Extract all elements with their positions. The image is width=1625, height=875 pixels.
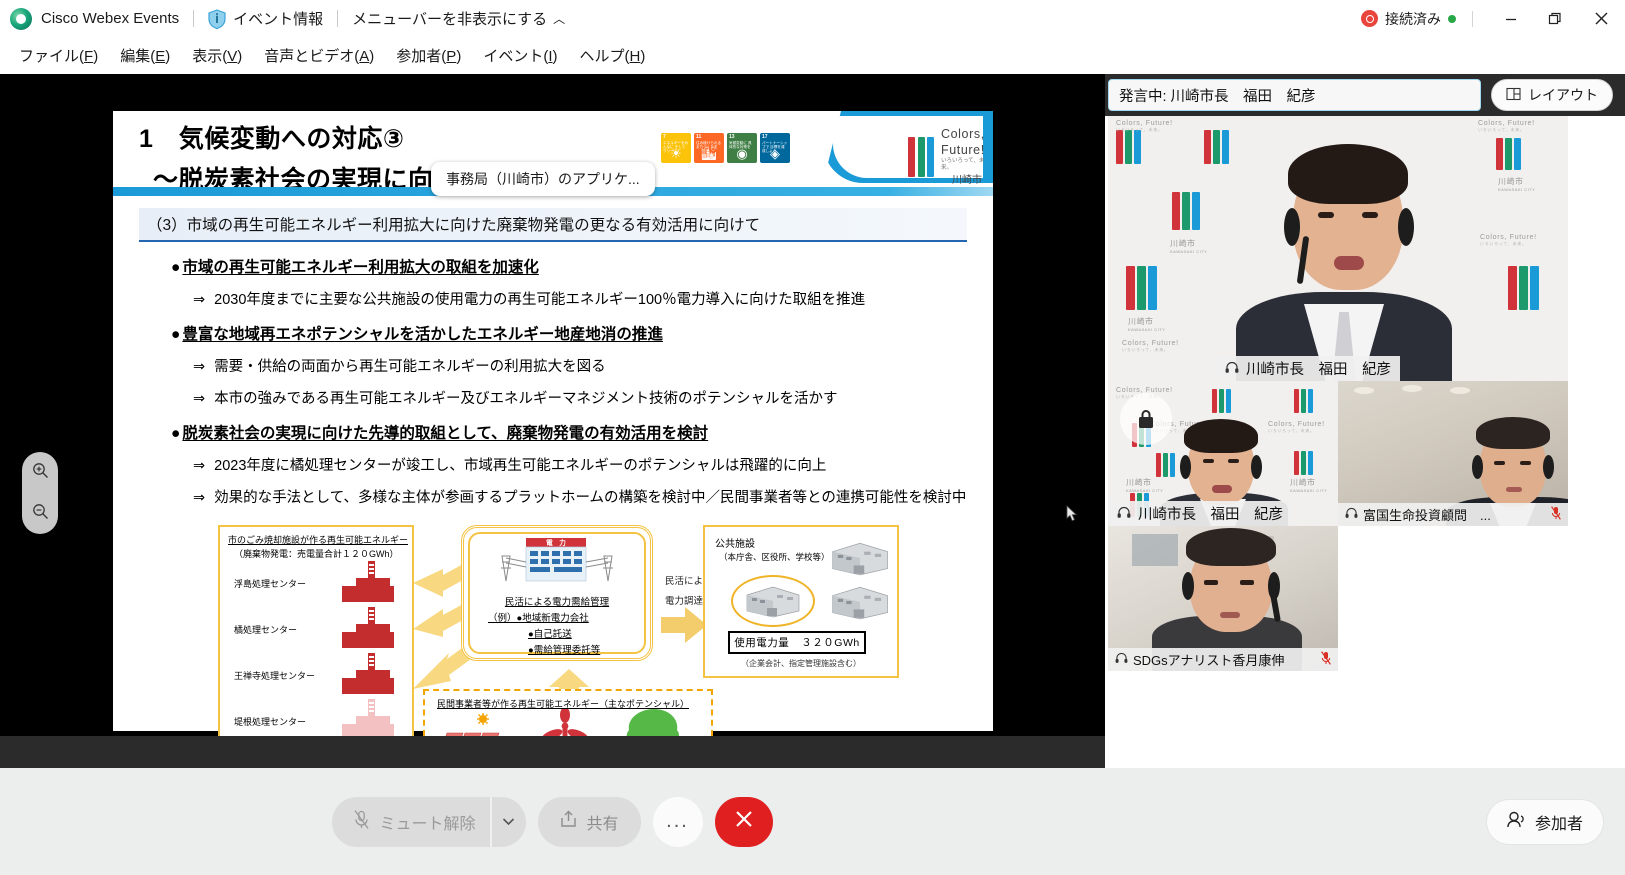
layout-grid-icon — [1506, 87, 1521, 104]
menu-label: 編集 — [120, 48, 150, 65]
bullet-head: ●豊富な地域再エネポテンシャルを活かしたエネルギー地産地消の推進 — [171, 322, 993, 344]
video-tile-name: 川崎市長 福田 紀彦 — [1246, 358, 1391, 379]
close-button[interactable] — [1577, 0, 1625, 37]
event-info-label: イベント情報 — [233, 8, 323, 29]
menu-item-file[interactable]: ファイル(F) — [8, 42, 109, 69]
menu-bar: ファイル(F) 編集(E) 表示(V) 音声とビデオ(A) 参加者(P) イベン… — [0, 37, 1625, 74]
slide-diagram: 市のごみ焼却施設が作る再生可能エネルギー （廃棄物発電：売電量合計１２０GWh）… — [113, 521, 993, 768]
app-title: Cisco Webex Events — [41, 10, 179, 27]
close-icon — [733, 808, 755, 836]
bullet-head-text: 脱炭素社会の実現に向けた先導的取組として、廃棄物発電の有効活用を検討 — [182, 421, 708, 443]
headset-icon — [1225, 361, 1239, 377]
leave-meeting-button[interactable] — [715, 797, 773, 847]
logo-tagline: Colors, Future! — [941, 127, 993, 158]
participants-button[interactable]: 参加者 — [1487, 800, 1603, 844]
slide-bullets: ●市域の再生可能エネルギー利用拡大の取組を加速化 ⇒ 2030年度までに主要な公… — [171, 255, 993, 507]
sdg-badge-11: 11 住み続けられる まちづくりを 🏙 — [694, 133, 724, 163]
more-options-button[interactable]: ... — [653, 797, 703, 847]
menu-item-participants[interactable]: 参加者(P) — [385, 42, 472, 69]
arrow-icon: ⇒ — [193, 359, 205, 375]
video-tile-name-bar: 川崎市長 福田 紀彦 — [1108, 501, 1292, 526]
bullet-sub: ⇒ 本市の強みである再生可能エネルギー及びエネルギーマネジメント技術のポテンシャ… — [193, 387, 993, 408]
diagram-plant-row: 橘処理センター — [220, 605, 416, 651]
bullet-head-text: 市域の再生可能エネルギー利用拡大の取組を加速化 — [182, 255, 539, 277]
webex-logo-icon — [10, 8, 32, 30]
incinerator-icon — [338, 607, 400, 649]
bullet-sub-text: 本市の強みである再生可能エネルギー及びエネルギーマネジメント技術のポテンシャルを… — [214, 387, 837, 408]
menu-label: ファイル — [19, 48, 79, 65]
diagram-mid-box: 電 力 民活による電力需給管理 — [461, 525, 653, 661]
mic-muted-icon — [1321, 651, 1331, 668]
menu-accel: E — [155, 48, 165, 65]
layout-button-label: レイアウト — [1528, 85, 1598, 105]
sdg-glyph-icon: ◈ — [770, 147, 780, 162]
menu-accel: F — [84, 48, 93, 65]
sdg-glyph-icon: 🏙 — [701, 147, 718, 162]
menu-accel: V — [227, 48, 237, 65]
menu-item-view[interactable]: 表示(V) — [181, 42, 253, 69]
menu-item-audio-video[interactable]: 音声とビデオ(A) — [253, 42, 385, 69]
diagram-plant-row: 浮島処理センター — [220, 559, 416, 605]
incinerator-icon — [338, 699, 400, 741]
svg-text:電 力: 電 力 — [546, 538, 566, 547]
menu-label: ヘルプ — [580, 48, 625, 65]
sdg-badge-7: 7 エネルギーをみんなに そしてクリーンに ☀ — [661, 133, 691, 163]
menu-item-event[interactable]: イベント(I) — [472, 42, 568, 69]
maximize-restore-button[interactable] — [1533, 0, 1577, 37]
bullet-sub-text: 2023年度に橘処理センターが竣工し、市域再生可能エネルギーのポテンシャルは飛躍… — [214, 454, 826, 475]
video-tile-row: SDGsアナリスト香月康伸 — [1108, 526, 1625, 671]
video-tile-empty-slot — [1338, 526, 1568, 671]
video-tile-name: SDGsアナリスト香月康伸 — [1133, 650, 1284, 669]
sdg-badge-group: 7 エネルギーをみんなに そしてクリーンに ☀ 11 住み続けられる まちづくり… — [661, 133, 790, 163]
active-speaker-field[interactable]: 発言中: 川崎市長 福田 紀彦 — [1108, 79, 1481, 111]
divider — [1472, 11, 1473, 27]
lock-icon — [1120, 393, 1172, 445]
video-tile-selected[interactable]: Colors, Future!いろいろって、未来。 Colors, Future… — [1108, 381, 1338, 526]
public-building-icon — [827, 539, 893, 577]
titlebar-right-group: 接続済み — [1361, 0, 1625, 37]
headset-icon — [1345, 507, 1358, 522]
sdg-badge-17: 17 パートナーシップで 目標を達成しよう ◈ — [760, 133, 790, 163]
diagram-right-title: 公共施設 — [715, 535, 755, 550]
power-plant-graphic: 電 力 — [492, 538, 622, 595]
participants-video-panel: 発言中: 川崎市長 福田 紀彦 レイアウト Colors, Future!いろい… — [1105, 74, 1625, 768]
incinerator-icon — [338, 561, 400, 603]
headset-icon — [1117, 506, 1131, 522]
divider — [193, 10, 194, 27]
arrow-icon: ⇒ — [193, 458, 205, 474]
share-button[interactable]: 共有 — [538, 797, 641, 847]
event-info-link[interactable]: イベント情報 — [233, 8, 323, 29]
meeting-controls-bar: ミュート解除 共有 ... 参加者 — [0, 768, 1625, 875]
power-usage-label: 使用電力量 — [734, 635, 789, 650]
window-title-bar: Cisco Webex Events イベント情報 メニューバーを非表示にする … — [0, 0, 1625, 37]
panel-toolbar: 発言中: 川崎市長 福田 紀彦 レイアウト — [1105, 74, 1625, 116]
zoom-controls[interactable] — [22, 452, 58, 534]
primary-controls: ミュート解除 共有 ... — [0, 768, 1105, 875]
logo-bars-icon — [908, 137, 934, 177]
zoom-out-icon[interactable] — [32, 503, 49, 524]
shield-info-icon[interactable] — [208, 9, 226, 29]
mic-muted-icon — [1551, 506, 1561, 523]
bullet-sub: ⇒ 効果的な手法として、多様な主体が参画するプラットホームの構築を検討中／民間事… — [193, 486, 993, 507]
menu-label: 音声とビデオ — [264, 48, 354, 65]
video-tile-name: 川崎市長 福田 紀彦 — [1138, 503, 1283, 524]
menu-accel: I — [548, 48, 552, 65]
logo-tagline-sub: いろいろって、未来。 — [941, 158, 993, 172]
chevron-down-icon — [502, 814, 515, 829]
bullet-sub: ⇒ 2023年度に橘処理センターが竣工し、市域再生可能エネルギーのポテンシャルは… — [193, 454, 993, 475]
shared-content-stage[interactable]: 1 気候変動への対応③ ～脱炭素社会の実現に向けた取組～ 7 エネルギーをみんな… — [0, 74, 1105, 768]
video-person — [1108, 116, 1568, 381]
plant-name: 橘処理センター — [234, 623, 297, 636]
diagram-mid-caption: 民活による電力需給管理 — [464, 594, 650, 608]
menu-accel: A — [359, 48, 369, 65]
arrow-icon: ⇒ — [193, 292, 205, 308]
logo-text: Colors, Future! いろいろって、未来。 川崎市 — [941, 127, 993, 188]
sdg-glyph-icon: ◉ — [736, 147, 747, 162]
mouse-cursor-icon — [1066, 505, 1078, 521]
connection-status-label: 接続済み — [1385, 9, 1441, 29]
arrow-icon: ⇒ — [193, 490, 205, 506]
connected-dot-icon — [1448, 15, 1456, 23]
diagram-arrow-label-2: 電力調達 — [665, 593, 703, 607]
public-building-icon — [827, 583, 893, 621]
diagram-left-title: 市のごみ焼却施設が作る再生可能エネルギー — [228, 533, 408, 546]
video-tile-active-speaker[interactable]: Colors, Future!いろいろって、未来。 川崎市KAWASAKI CI… — [1108, 116, 1568, 381]
video-tile-name-bar: 川崎市長 福田 紀彦 — [1216, 356, 1400, 381]
menu-label: 表示 — [192, 48, 222, 65]
bullet-sub-text: 需要・供給の両面から再生可能エネルギーの利用拡大を図る — [214, 355, 606, 376]
menu-label: 参加者 — [396, 48, 441, 65]
menu-label: イベント — [483, 48, 543, 65]
recording-icon[interactable] — [1361, 10, 1378, 27]
plant-name: 王禅寺処理センター — [234, 669, 315, 682]
arrow-icon: ⇒ — [193, 391, 205, 407]
slide-title-line-1: 1 気候変動への対応③ — [137, 119, 561, 155]
share-upload-icon — [560, 810, 577, 833]
bullet-head: ●脱炭素社会の実現に向けた先導的取組として、廃棄物発電の有効活用を検討 — [171, 421, 993, 443]
video-tile-row: Colors, Future!いろいろって、未来。 Colors, Future… — [1108, 381, 1625, 526]
menu-accel: H — [630, 48, 641, 65]
participants-button-label: 参加者 — [1535, 810, 1583, 834]
menu-item-edit[interactable]: 編集(E) — [109, 42, 181, 69]
person-icon — [1507, 811, 1526, 833]
plant-name: 堤根処理センター — [234, 715, 306, 728]
presentation-slide[interactable]: 1 気候変動への対応③ ～脱炭素社会の実現に向けた取組～ 7 エネルギーをみんな… — [113, 111, 993, 731]
more-options-icon: ... — [666, 810, 689, 833]
bullet-sub: ⇒ 需要・供給の両面から再生可能エネルギーの利用拡大を図る — [193, 355, 993, 376]
kawasaki-city-logo: Colors, Future! いろいろって、未来。 川崎市 — [908, 127, 993, 188]
diagram-power-usage-box: 使用電力量 ３２０GWh — [728, 631, 866, 654]
incinerator-icon — [338, 653, 400, 695]
chevron-up-icon: ︿ — [553, 10, 565, 27]
zoom-in-icon[interactable] — [32, 462, 49, 483]
slide-section-heading: （3）市域の再生可能エネルギー利用拡大に向けた廃棄物発電の更なる有効活用に向けて — [139, 208, 967, 242]
sdg-badge-13: 13 気候変動に 具体的な対策を ◉ — [727, 133, 757, 163]
video-tile[interactable]: 富国生命投資顧問 ... — [1338, 381, 1568, 526]
bullet-sub-text: 効果的な手法として、多様な主体が参画するプラットホームの構築を検討中／民間事業者… — [214, 486, 966, 507]
mute-button-label: ミュート解除 — [379, 810, 475, 834]
diagram-right-box: 公共施設 （本庁舎、区役所、学校等） — [703, 525, 899, 678]
logo-city: 川崎市 — [941, 175, 993, 188]
share-button-label: 共有 — [587, 810, 619, 834]
diagram-right-footnote: （企業会計、指定管理施設含む） — [705, 658, 897, 669]
minimize-button[interactable] — [1489, 0, 1533, 37]
bullet-sub-text: 2030年度までに主要な公共施設の使用電力の再生可能エネルギー100％電力導入に… — [214, 288, 865, 309]
video-tile-name-bar: SDGsアナリスト香月康伸 — [1108, 648, 1338, 671]
mute-options-caret[interactable] — [490, 797, 526, 847]
sdg-glyph-icon: ☀ — [670, 147, 682, 162]
diagram-mid-item: ●需給管理委託等 — [528, 642, 600, 656]
mic-muted-icon — [354, 810, 369, 834]
menu-accel: P — [446, 48, 456, 65]
headset-icon — [1115, 652, 1128, 667]
power-usage-value: ３２０GWh — [801, 635, 859, 650]
diagram-right-subtitle: （本庁舎、区役所、学校等） — [719, 551, 830, 563]
divider — [337, 10, 338, 27]
app-tooltip: 事務局（川崎市）のアプリケ... — [431, 162, 655, 196]
diagram-left-box: 市のごみ焼却施設が作る再生可能エネルギー （廃棄物発電：売電量合計１２０GWh）… — [218, 525, 414, 768]
video-tile[interactable]: SDGsアナリスト香月康伸 — [1108, 526, 1338, 671]
mute-button[interactable]: ミュート解除 — [332, 797, 489, 847]
bullet-head: ●市域の再生可能エネルギー利用拡大の取組を加速化 — [171, 255, 993, 277]
hide-menubar-label: メニューバーを非表示にする — [352, 8, 547, 29]
bullet-sub: ⇒ 2030年度までに主要な公共施設の使用電力の再生可能エネルギー100％電力導… — [193, 288, 993, 309]
video-tile-name-bar: 富国生命投資顧問 ... — [1338, 503, 1568, 526]
stage-bottom-filler — [0, 736, 1105, 768]
diagram-plant-row: 王禅寺処理センター — [220, 651, 416, 697]
plant-name: 浮島処理センター — [234, 577, 306, 590]
hide-menubar-toggle[interactable]: メニューバーを非表示にする ︿ — [352, 8, 565, 29]
menu-item-help[interactable]: ヘルプ(H) — [569, 42, 657, 69]
public-building-icon — [743, 583, 803, 619]
layout-button[interactable]: レイアウト — [1491, 79, 1613, 111]
bullet-head-text: 豊富な地域再エネポテンシャルを活かしたエネルギー地産地消の推進 — [182, 322, 663, 344]
diagram-mid-item: （例）●地域新電力会社 — [488, 610, 589, 624]
active-speaker-label: 発言中: 川崎市長 福田 紀彦 — [1119, 85, 1316, 106]
diagram-mid-item: ●自己託送 — [528, 626, 572, 640]
video-tile-name: 富国生命投資顧問 ... — [1363, 505, 1491, 524]
